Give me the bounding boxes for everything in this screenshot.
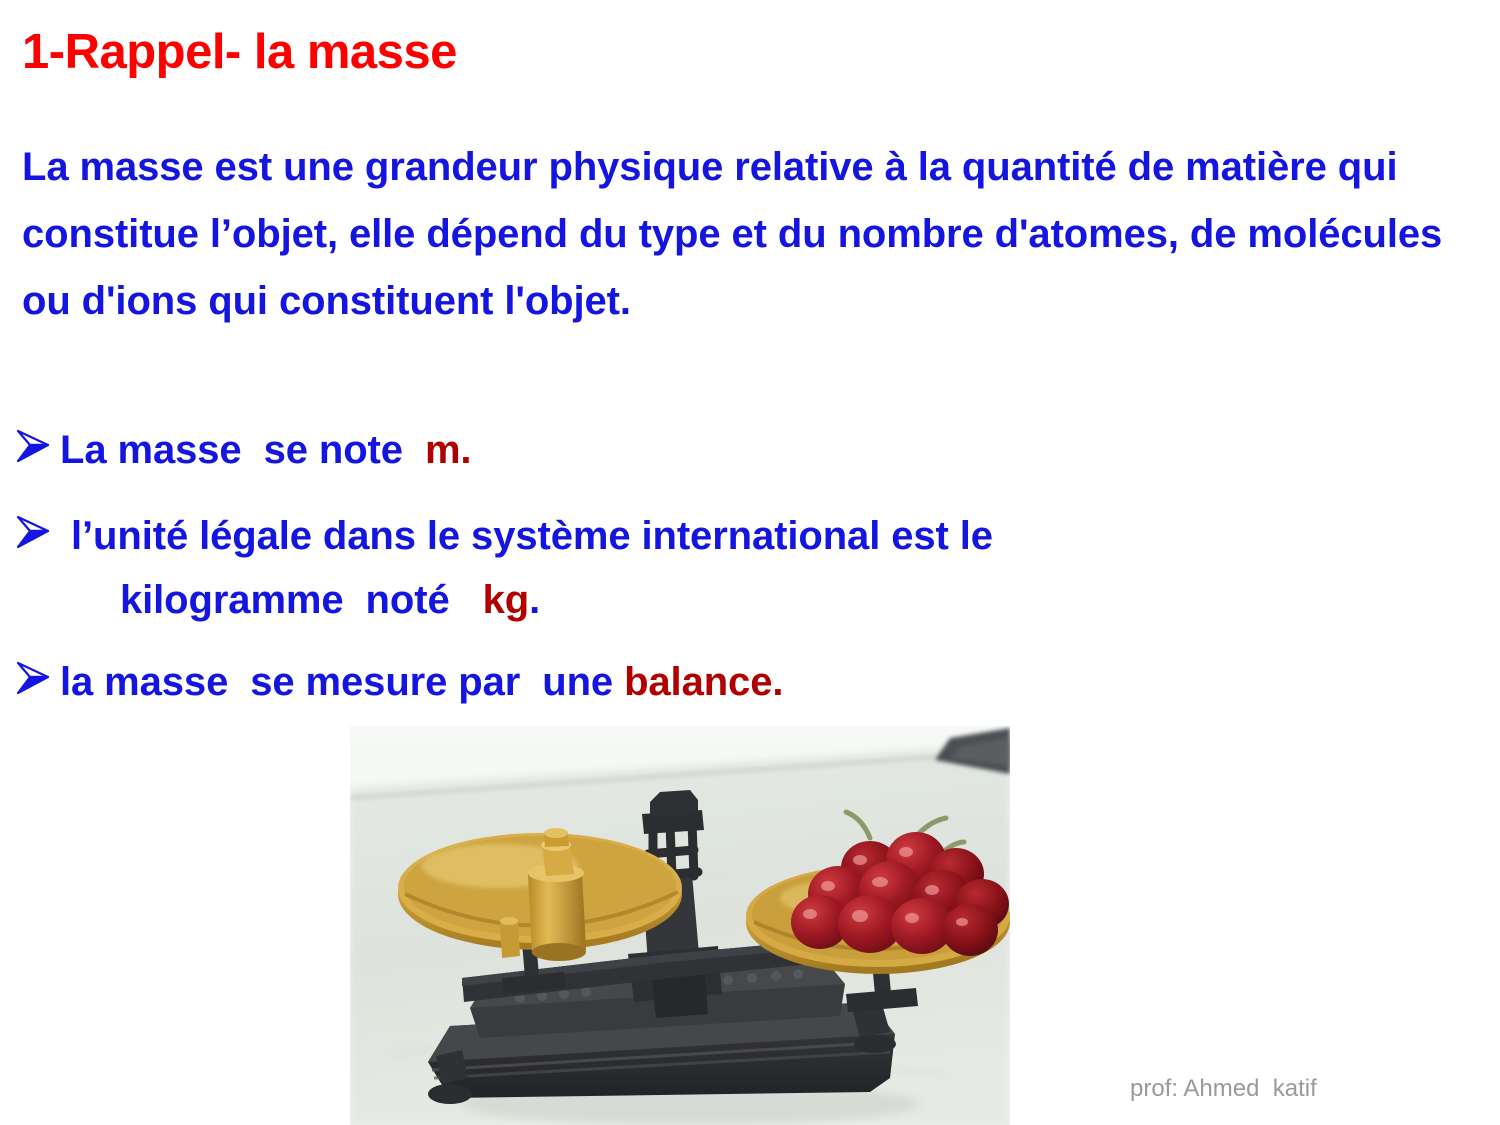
list-item-text: La masse se note m. <box>60 418 471 482</box>
list-item: la masse se mesure par une balance. <box>14 650 1414 714</box>
list-item-text-plain: la masse se mesure par une <box>60 660 624 704</box>
body-paragraph: La masse est une grandeur physique relat… <box>22 134 1492 335</box>
arrowhead-bullet-icon <box>14 418 60 466</box>
author-credit: prof: Ahmed katif <box>1130 1075 1317 1103</box>
balance-scale-photo <box>350 726 1010 1125</box>
list-item: La masse se note m. <box>14 418 1414 482</box>
list-item-text-plain: l’unité légale dans le système internati… <box>60 514 993 558</box>
list-item-text-plain: La masse se note <box>60 428 425 472</box>
list-item-highlight: m. <box>425 428 471 472</box>
bullet-list: La masse se note m. l’unité légale dans … <box>14 418 1414 728</box>
slide-root: 1-Rappel- la masse La masse est une gran… <box>0 0 1500 1125</box>
arrowhead-bullet-icon <box>14 504 60 552</box>
page-title: 1-Rappel- la masse <box>22 26 457 80</box>
list-item-text-plain-2: kilogramme noté <box>120 578 483 622</box>
arrowhead-bullet-icon <box>14 650 60 698</box>
list-item-text-after: . <box>529 578 540 622</box>
list-item-text-line2: kilogramme noté kg. <box>60 568 993 632</box>
list-item-text: l’unité légale dans le système internati… <box>60 504 993 632</box>
list-item: l’unité légale dans le système internati… <box>14 504 1414 632</box>
list-item-highlight: balance. <box>624 660 783 704</box>
list-item-highlight: kg <box>483 578 529 622</box>
list-item-text: la masse se mesure par une balance. <box>60 650 783 714</box>
